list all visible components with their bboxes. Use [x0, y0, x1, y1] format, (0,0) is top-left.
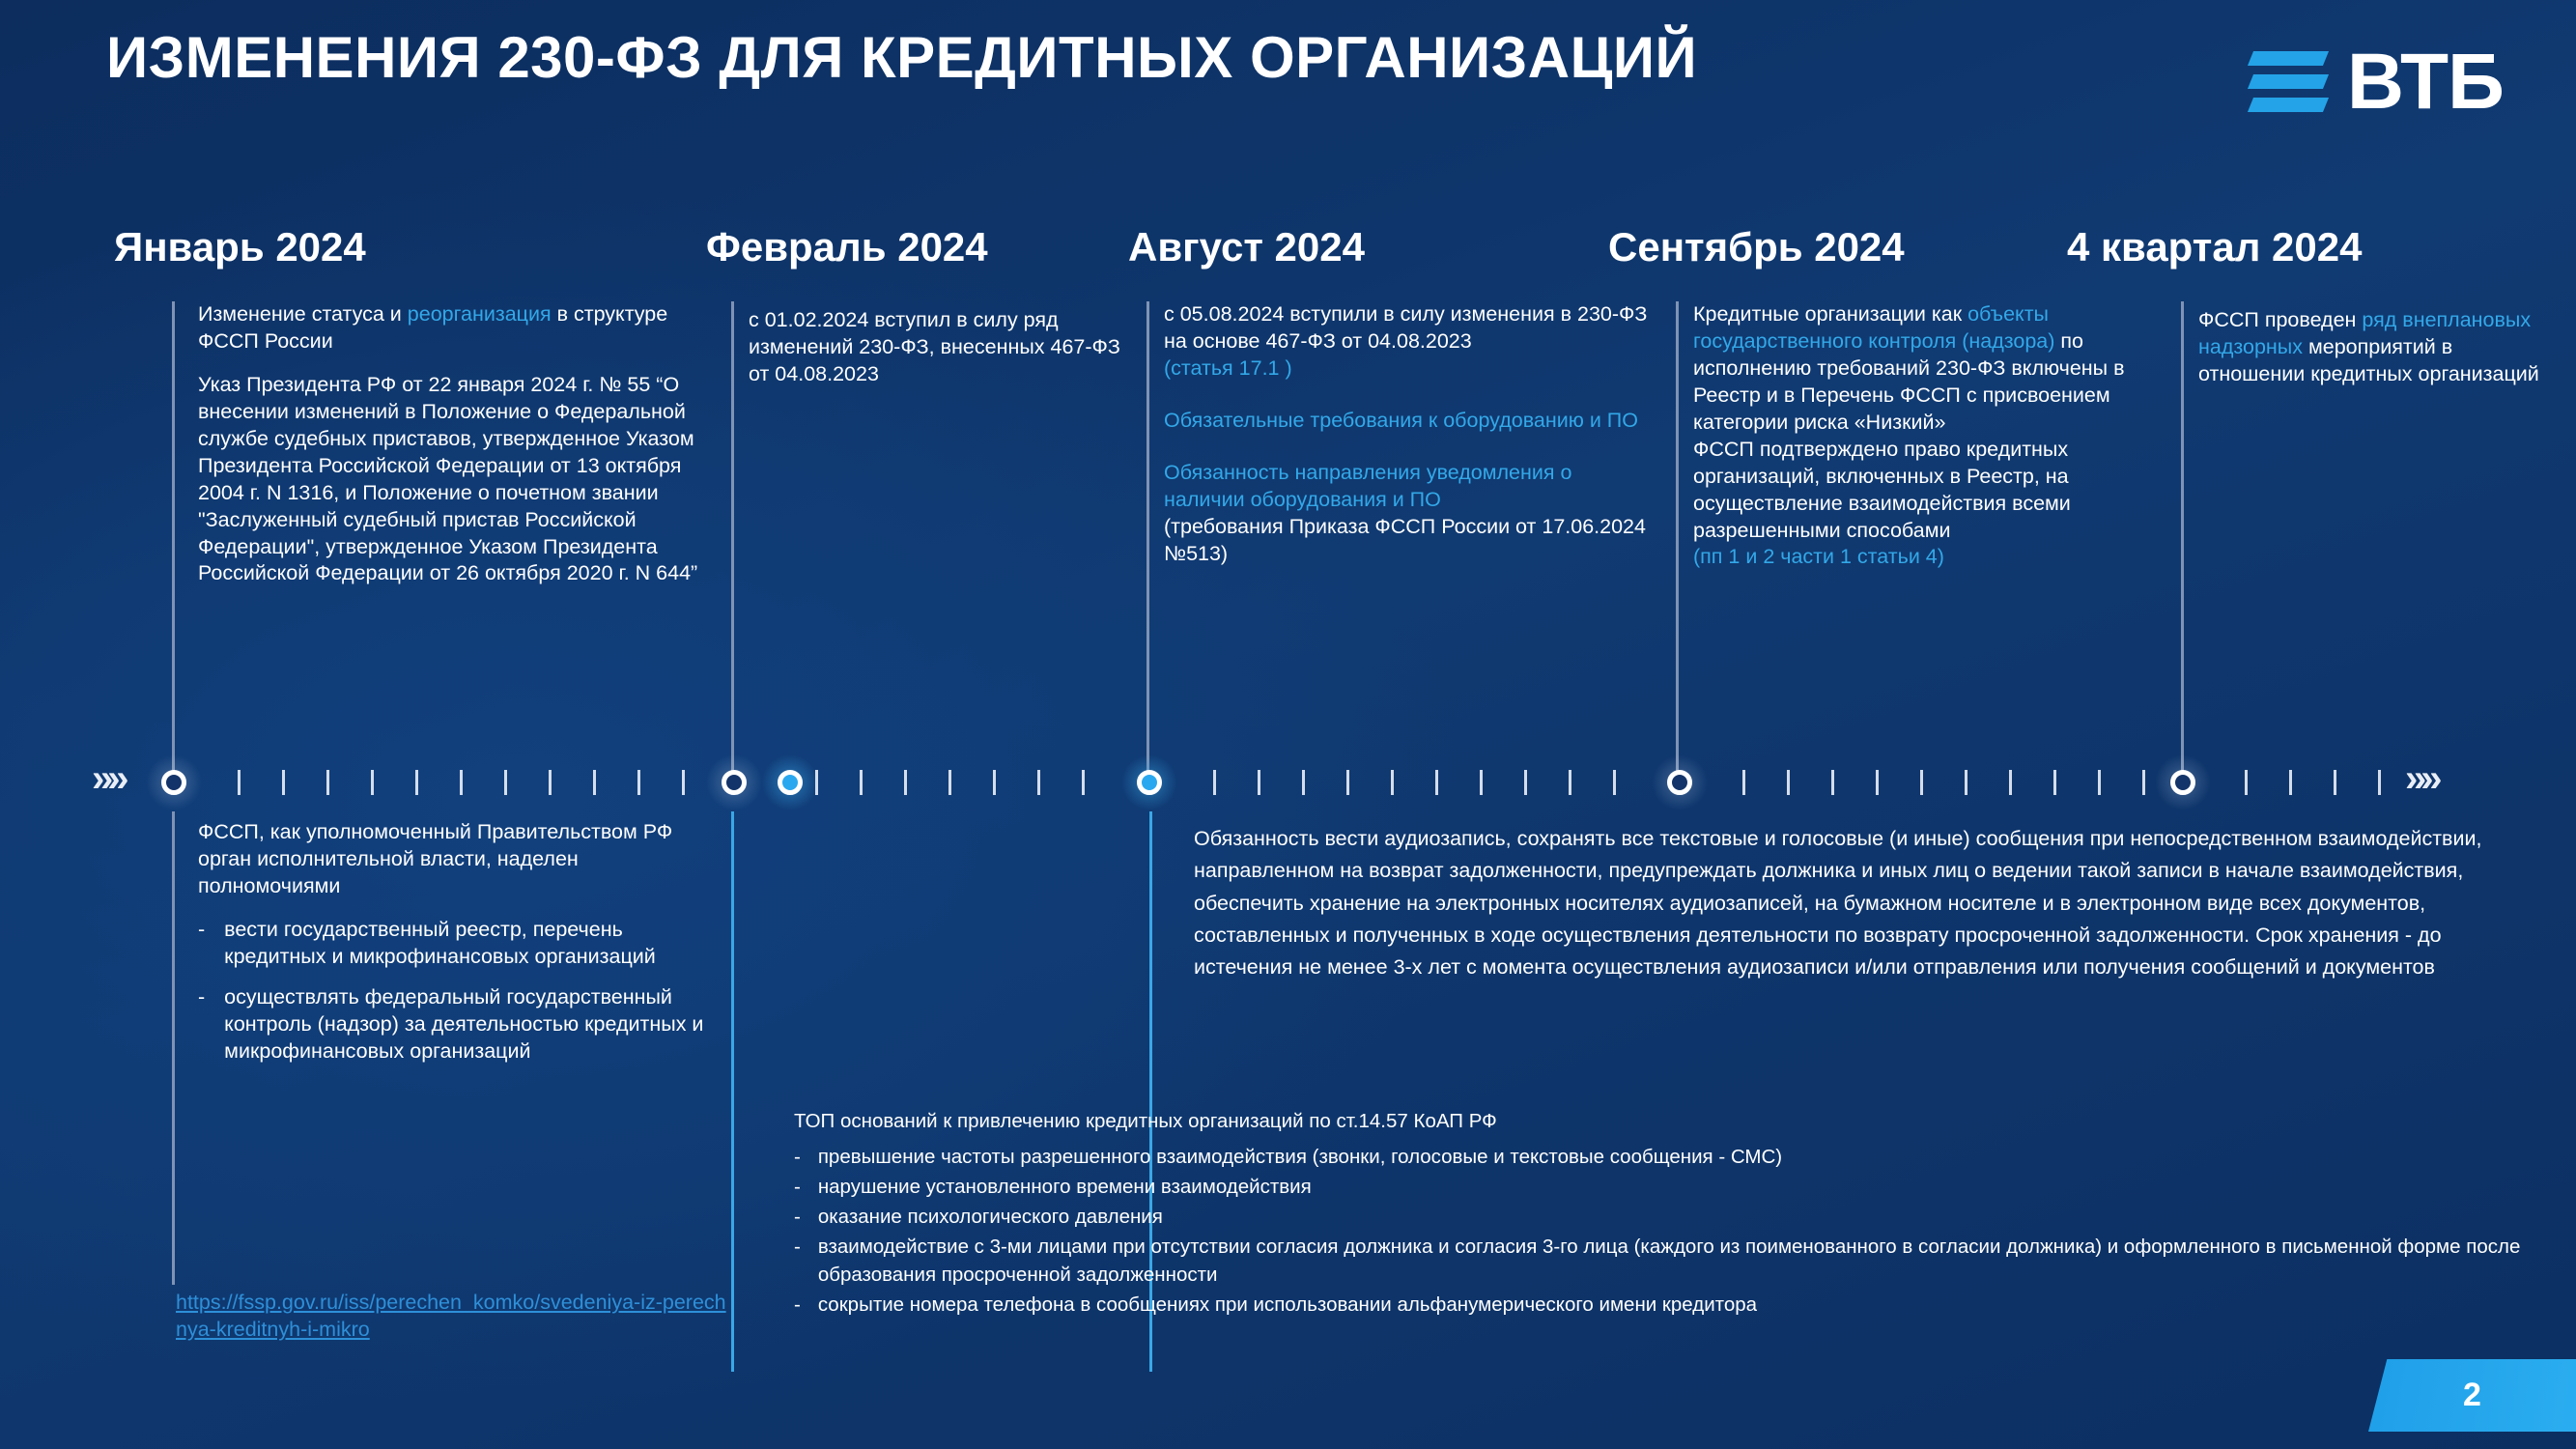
fssp-link-wrapper: https://fssp.gov.ru/iss/perechen_komko/s…: [176, 1290, 726, 1344]
list-item: -нарушение установленного времени взаимо…: [794, 1173, 2542, 1201]
divider-january: [172, 301, 175, 784]
timeline-heading-january: Январь 2024: [114, 224, 366, 270]
audio-record-paragraph: Обязанность вести аудиозапись, сохранять…: [1194, 823, 2536, 984]
list-item: -вести государственный реестр, перечень …: [198, 917, 720, 971]
september-paragraph-2: ФССП подтверждено право кредитных органи…: [1693, 437, 2166, 572]
timeline-chevrons-left-icon: »»: [92, 759, 124, 798]
divider-august: [1146, 301, 1149, 784]
list-item-text: вести государственный реестр, перечень к…: [224, 917, 720, 971]
dash-marker: -: [794, 1291, 801, 1319]
dash-marker: -: [794, 1143, 801, 1171]
dash-marker: -: [794, 1203, 801, 1231]
vtb-bars-icon: [2250, 51, 2326, 112]
page-title: ИЗМЕНЕНИЯ 230-ФЗ ДЛЯ КРЕДИТНЫХ ОРГАНИЗАЦ…: [106, 24, 1697, 91]
divider-lower-blue-left: [731, 811, 734, 1372]
list-item-text: превышение частоты разрешенного взаимоде…: [818, 1143, 1782, 1171]
divider-q4: [2181, 301, 2184, 784]
list-item-text: сокрытие номера телефона в сообщениях пр…: [818, 1291, 1757, 1319]
fssp-registry-link[interactable]: https://fssp.gov.ru/iss/perechen_komko/s…: [176, 1291, 726, 1341]
q4-paragraph-1: ФССП проведен ряд внеплановых надзорных …: [2198, 307, 2546, 388]
top-reasons-heading: ТОП оснований к привлечению кредитных ор…: [794, 1109, 2542, 1135]
dash-marker: -: [794, 1173, 801, 1201]
lower-left-intro: ФССП, как уполномоченный Правительством …: [198, 819, 720, 900]
divider-september: [1676, 301, 1679, 784]
timeline-node-q4[interactable]: [2154, 753, 2212, 811]
divider-lower-left: [172, 811, 175, 1285]
january-paragraph-2: Указ Президента РФ от 22 января 2024 г. …: [198, 372, 710, 588]
list-item: -взаимодействие с 3-ми лицами при отсутс…: [794, 1233, 2542, 1289]
list-item: -осуществлять федеральный государственны…: [198, 984, 720, 1065]
top-reasons-block: ТОП оснований к привлечению кредитных ор…: [794, 1109, 2542, 1321]
timeline-node-february-b[interactable]: [761, 753, 819, 811]
timeline-node-august[interactable]: [1120, 753, 1178, 811]
list-item-text: взаимодействие с 3-ми лицами при отсутст…: [818, 1233, 2542, 1289]
list-item: -сокрытие номера телефона в сообщениях п…: [794, 1291, 2542, 1319]
january-paragraph-1: Изменение статуса и реорганизация в стру…: [198, 301, 710, 355]
vtb-logo: ВТБ: [2250, 46, 2504, 118]
timeline-node-january[interactable]: [145, 753, 203, 811]
top-reasons-list: -превышение частоты разрешенного взаимод…: [794, 1143, 2542, 1320]
list-item: -превышение частоты разрешенного взаимод…: [794, 1143, 2542, 1171]
divider-february: [731, 301, 734, 784]
timeline-heading-september: Сентябрь 2024: [1608, 224, 1905, 270]
timeline-heading-q4: 4 квартал 2024: [2067, 224, 2362, 270]
august-paragraph-2: Обязательные требования к оборудованию и…: [1164, 408, 1656, 435]
column-q4-text: ФССП проведен ряд внеплановых надзорных …: [2198, 307, 2546, 388]
vtb-wordmark: ВТБ: [2347, 46, 2504, 118]
lower-left-list: -вести государственный реестр, перечень …: [198, 917, 720, 1065]
timeline-heading-august: Август 2024: [1128, 224, 1365, 270]
dash-marker: -: [198, 984, 205, 1065]
august-paragraph-1: с 05.08.2024 вступили в силу изменения в…: [1164, 301, 1656, 383]
column-september-text: Кредитные организации как объекты госуда…: [1693, 301, 2166, 571]
september-paragraph-1: Кредитные организации как объекты госуда…: [1693, 301, 2166, 437]
timeline-axis: »» »»: [0, 763, 2576, 802]
timeline-node-february-a[interactable]: [705, 753, 763, 811]
timeline-node-september[interactable]: [1651, 753, 1709, 811]
dash-marker: -: [198, 917, 205, 971]
column-february-text: с 01.02.2024 вступил в силу ряд изменени…: [749, 307, 1135, 388]
slide-canvas: ИЗМЕНЕНИЯ 230-ФЗ ДЛЯ КРЕДИТНЫХ ОРГАНИЗАЦ…: [0, 0, 2576, 1449]
list-item-text: осуществлять федеральный государственный…: [224, 984, 720, 1065]
lower-left-block: ФССП, как уполномоченный Правительством …: [198, 819, 720, 1079]
list-item-text: нарушение установленного времени взаимод…: [818, 1173, 1312, 1201]
page-number-badge: 2: [2368, 1359, 2576, 1432]
list-item-text: оказание психологического давления: [818, 1203, 1163, 1231]
august-paragraph-3: Обязанность направления уведомления о на…: [1164, 460, 1656, 568]
column-january-text: Изменение статуса и реорганизация в стру…: [198, 301, 710, 587]
dash-marker: -: [794, 1233, 801, 1289]
timeline-chevrons-right-icon: »»: [2405, 759, 2437, 798]
list-item: -оказание психологического давления: [794, 1203, 2542, 1231]
column-august-text: с 05.08.2024 вступили в силу изменения в…: [1164, 301, 1656, 568]
timeline-heading-february: Февраль 2024: [706, 224, 988, 270]
february-paragraph-1: с 01.02.2024 вступил в силу ряд изменени…: [749, 307, 1135, 388]
